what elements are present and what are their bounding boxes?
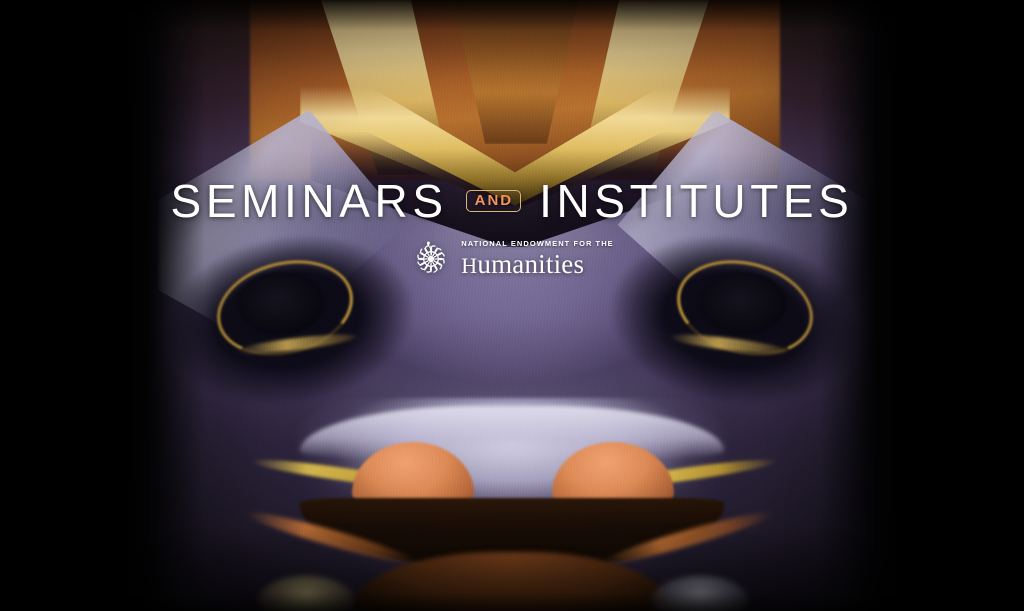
neh-logo: NATIONAL ENDOWMENT FOR THE Humanities xyxy=(410,238,613,280)
neh-rosette-icon xyxy=(410,238,452,280)
headline-word-seminars: SEMINARS xyxy=(171,178,448,224)
neh-name-rest: umanities xyxy=(477,249,584,279)
seminars-and-institutes-banner: SEMINARS AND INSTITUTES xyxy=(0,0,1024,611)
neh-name: Humanities xyxy=(461,251,584,278)
headline-and-badge: AND xyxy=(466,190,522,212)
neh-name-cap: H xyxy=(461,253,477,278)
neh-tagline: NATIONAL ENDOWMENT FOR THE xyxy=(461,240,613,248)
banner-headline: SEMINARS AND INSTITUTES xyxy=(171,178,854,224)
neh-logo-wordmark: NATIONAL ENDOWMENT FOR THE Humanities xyxy=(461,240,613,278)
headline-word-institutes: INSTITUTES xyxy=(539,178,853,224)
banner-overlay: SEMINARS AND INSTITUTES xyxy=(0,0,1024,611)
